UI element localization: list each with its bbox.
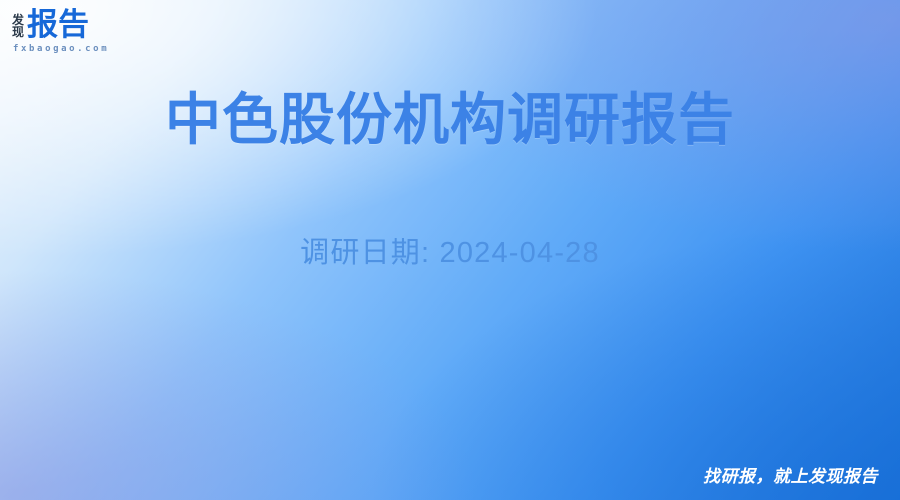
logo-stack-bottom: 现: [12, 26, 24, 38]
page-title: 中色股份机构调研报告: [0, 86, 900, 154]
cover-headline-block: 中色股份机构调研报告: [0, 86, 900, 154]
logo-url: fxbaogao.com: [13, 44, 109, 54]
logo-stacked-characters: 发 现: [12, 14, 24, 40]
brand-logo[interactable]: 发 现 报告 fxbaogao.com: [12, 9, 109, 54]
logo-wordmark-row: 发 现 报告: [12, 9, 89, 40]
cover-subtitle: 调研日期: 2024-04-28: [0, 233, 900, 273]
logo-wordmark: 报告: [27, 9, 89, 40]
footer-slogan: 找研报，就上发现报告: [703, 466, 878, 488]
report-cover-slide: 发 现 报告 fxbaogao.com 中色股份机构调研报告 调研日期: 202…: [0, 0, 900, 500]
